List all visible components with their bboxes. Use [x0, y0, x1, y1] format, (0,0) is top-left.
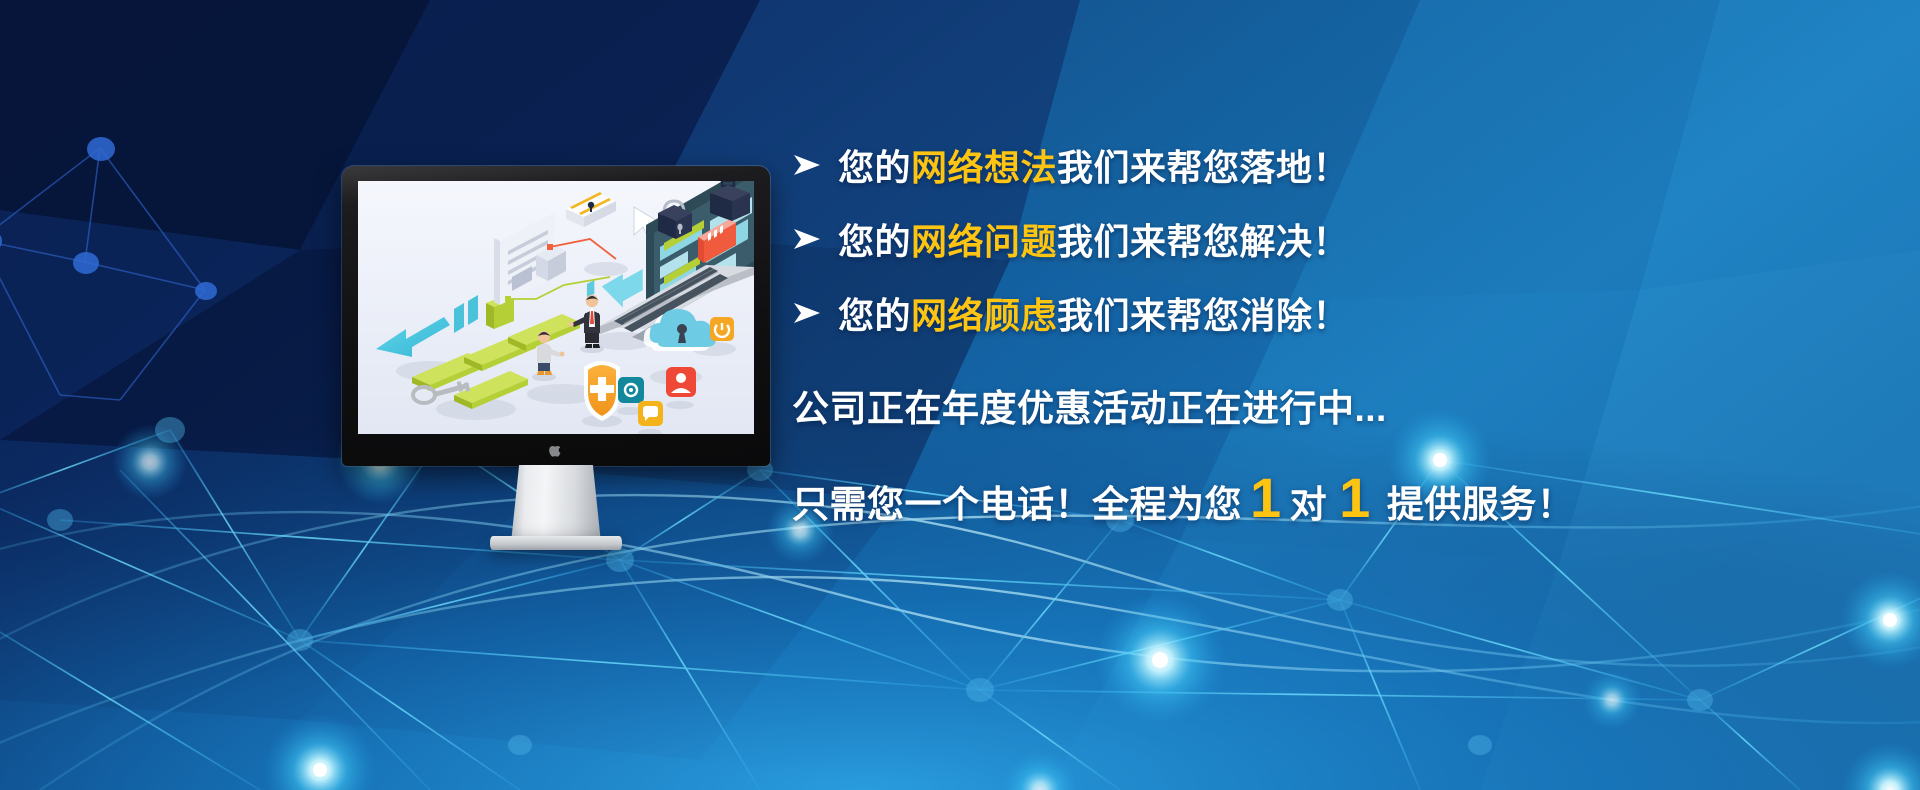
- promo-line: 公司正在年度优惠活动正在进行中...: [792, 378, 1802, 432]
- service-number-1: 1: [1242, 470, 1290, 526]
- service-line: 只需您一个电话！全程为您 1 对 1 提供服务！: [792, 470, 1802, 528]
- headline-bullet-3-text: 您的网络顾虑我们来帮您消除！: [838, 287, 1349, 339]
- bullet-3-suffix: 我们来帮您消除！: [1057, 295, 1349, 336]
- bullet-3-highlight: 网络顾虑: [911, 295, 1057, 336]
- isometric-scene: [358, 181, 754, 434]
- headline-bullet-2: 您的网络问题我们来帮您解决！: [792, 202, 1802, 276]
- service-line-part1: 只需您一个电话！全程为您: [792, 474, 1242, 528]
- bullet-1-suffix: 我们来帮您落地！: [1057, 147, 1349, 188]
- imac-monitor-illustration: [342, 166, 770, 476]
- service-line-middle: 对: [1290, 474, 1332, 528]
- monitor-stand-foot: [490, 536, 622, 550]
- arrow-right-triangle-icon: [792, 152, 838, 178]
- bullet-2-suffix: 我们来帮您解决！: [1057, 221, 1349, 262]
- banner-copy: 您的网络想法我们来帮您落地！ 您的网络问题我们来帮您解决！ 您的网络顾虑我们来帮…: [792, 128, 1802, 528]
- service-number-2: 1: [1331, 470, 1379, 526]
- promotional-banner: 您的网络想法我们来帮您落地！ 您的网络问题我们来帮您解决！ 您的网络顾虑我们来帮…: [0, 0, 1920, 790]
- arrow-right-triangle-icon: [792, 300, 838, 326]
- monitor-stand-neck: [511, 465, 601, 543]
- app-tile-power-icon: [710, 317, 734, 341]
- bullet-3-prefix: 您的: [838, 295, 911, 336]
- apple-logo-icon: [549, 441, 563, 458]
- shield-plus-icon: [582, 361, 622, 427]
- monitor-screen: [358, 181, 754, 434]
- headline-bullet-1-text: 您的网络想法我们来帮您落地！: [838, 139, 1349, 191]
- bullet-2-prefix: 您的: [838, 221, 911, 262]
- headline-bullet-3: 您的网络顾虑我们来帮您消除！: [792, 276, 1802, 350]
- headline-bullet-1: 您的网络想法我们来帮您落地！: [792, 128, 1802, 202]
- bullet-1-highlight: 网络想法: [911, 147, 1057, 188]
- monitor-bezel: [342, 166, 770, 466]
- headline-bullet-2-text: 您的网络问题我们来帮您解决！: [838, 213, 1349, 265]
- service-line-part2: 提供服务！: [1379, 474, 1575, 528]
- arrow-right-triangle-icon: [792, 226, 838, 252]
- bullet-1-prefix: 您的: [838, 147, 911, 188]
- bullet-2-highlight: 网络问题: [911, 221, 1057, 262]
